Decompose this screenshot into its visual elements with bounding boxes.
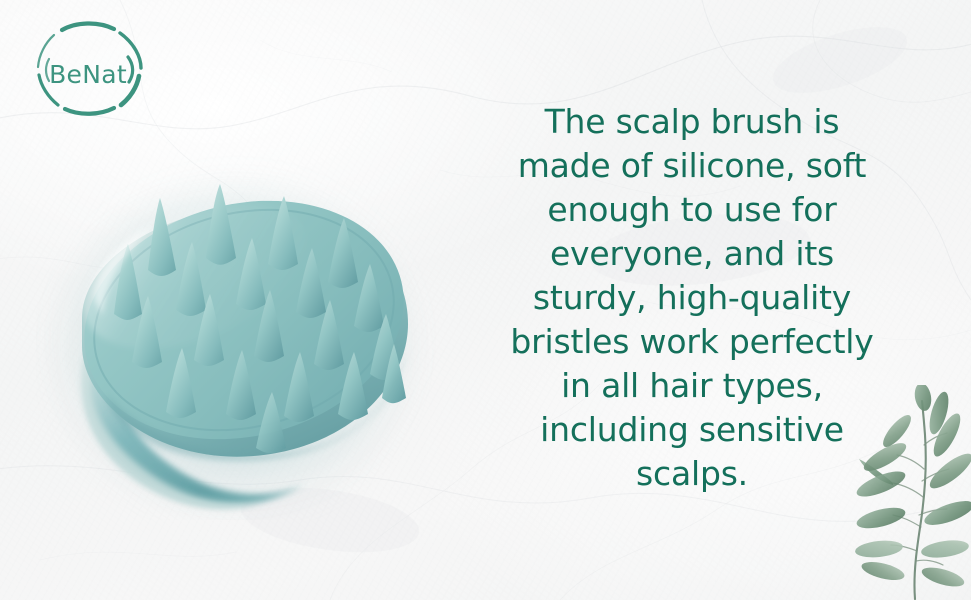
benat-logo-wordmark: BeNat (49, 60, 127, 89)
product-feature-banner: BeNat (0, 0, 971, 600)
description-line-4: everyone, and its (492, 232, 892, 276)
description-line-1: The scalp brush is (492, 100, 892, 144)
benat-logo-icon: BeNat (24, 12, 152, 124)
description-line-7: in all hair types, (492, 364, 892, 408)
description-line-2: made of silicone, soft (492, 144, 892, 188)
scalp-brush-illustration (36, 148, 436, 520)
olive-branch-icon (851, 385, 971, 600)
description-line-9: scalps. (492, 452, 892, 496)
description-line-6: bristles work perfectly (492, 320, 892, 364)
description-line-3: enough to use for (492, 188, 892, 232)
description-line-8: including sensitive (492, 408, 892, 452)
olive-branch-decoration (851, 385, 971, 600)
product-description: The scalp brush is made of silicone, sof… (492, 100, 892, 496)
description-line-5: sturdy, high-quality (492, 276, 892, 320)
scalp-brush-product (36, 148, 436, 520)
benat-logo[interactable]: BeNat (24, 12, 152, 124)
